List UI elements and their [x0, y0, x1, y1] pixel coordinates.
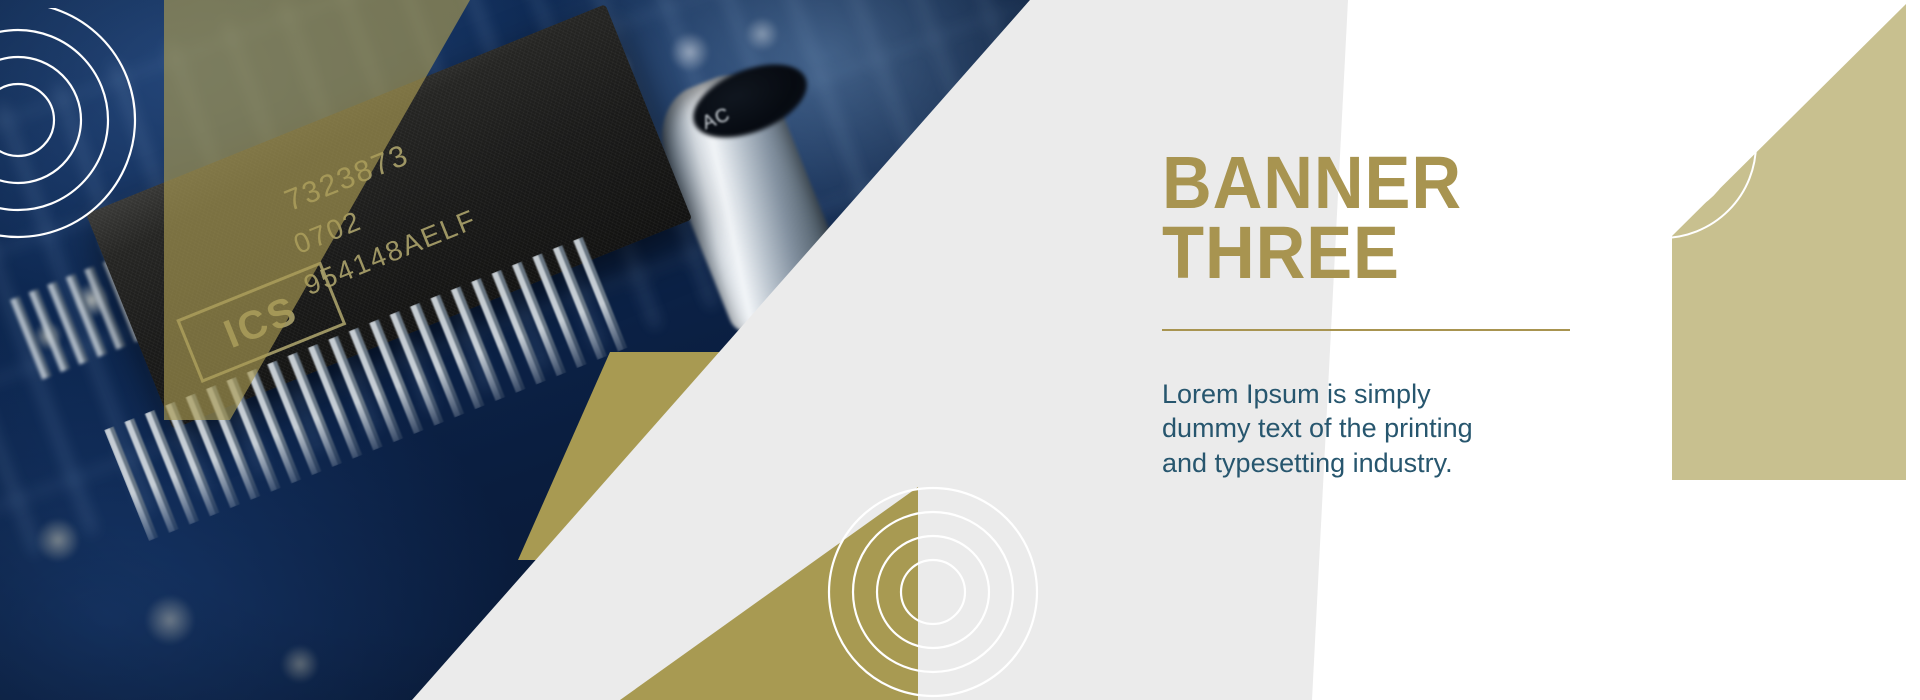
headline-line-2: THREE [1162, 218, 1590, 288]
banner-body-text: Lorem Ipsum is simply dummy text of the … [1162, 377, 1507, 481]
photo-vignette [0, 0, 1060, 700]
banner-content: BANNER THREE Lorem Ipsum is simply dummy… [1162, 148, 1622, 480]
banner-three: AC ICS 7323873 0702 954148AELF [0, 0, 1920, 700]
circuit-board-photo: AC ICS 7323873 0702 954148AELF [0, 0, 1060, 700]
page-title: BANNER THREE [1162, 148, 1590, 289]
divider [1162, 329, 1570, 331]
photo-canvas: AC ICS 7323873 0702 954148AELF [0, 0, 1060, 700]
headline-line-1: BANNER [1162, 148, 1590, 218]
concentric-rings-icon-bottom-center [813, 472, 1053, 700]
